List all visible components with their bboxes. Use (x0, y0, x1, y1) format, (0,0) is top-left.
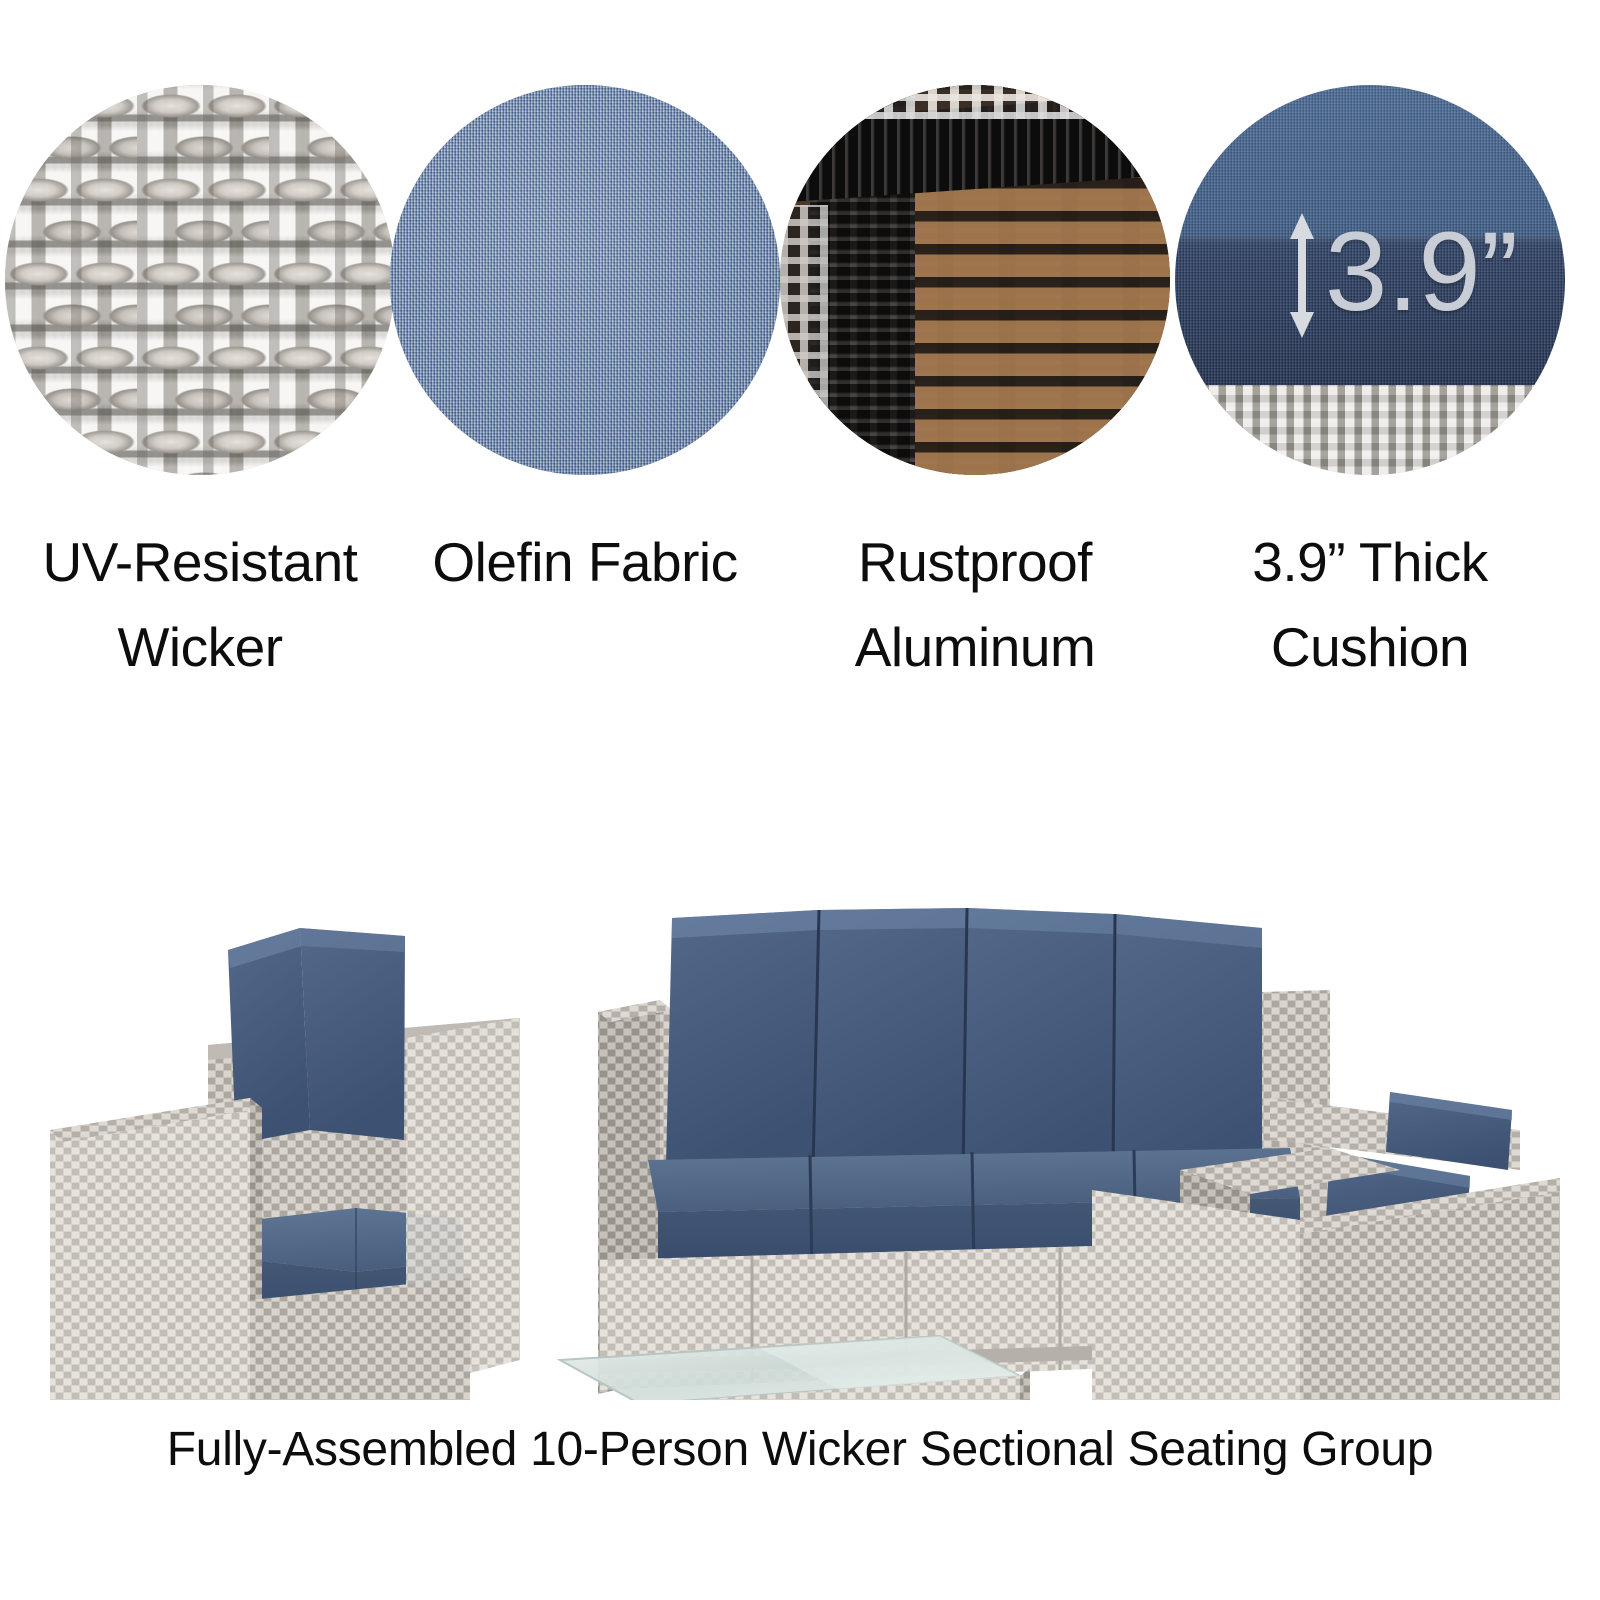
feature-caption: UV-Resistant Wicker (0, 520, 400, 690)
feature-caption-line1: 3.9” Thick (1170, 520, 1570, 605)
feature-caption-line2: Cushion (1170, 605, 1570, 690)
feature-caption-line2: Wicker (0, 605, 400, 690)
product-infographic-page: UV-Resistant Wicker Olefin Fabric (0, 0, 1600, 1600)
wicker-sectional-seating-group-photo (0, 700, 1600, 1400)
feature-caption: Rustproof Aluminum (775, 520, 1175, 690)
feature-caption-line1: UV-Resistant (0, 520, 400, 605)
feature-rustproof-aluminum: Rustproof Aluminum (775, 0, 1175, 700)
aluminum-frame-photo-icon (780, 85, 1170, 475)
feature-olefin-fabric: Olefin Fabric (385, 0, 785, 700)
blue-olefin-fabric-swatch-icon (390, 85, 780, 475)
loveseat-left (50, 928, 520, 1400)
feature-caption-line2: Aluminum (775, 605, 1175, 690)
page-caption: Fully-Assembled 10-Person Wicker Section… (0, 1418, 1600, 1482)
feature-highlights-row: UV-Resistant Wicker Olefin Fabric (0, 0, 1600, 700)
double-arrow-icon (1287, 213, 1317, 338)
cushion-thickness-value: 3.9” (1325, 213, 1518, 331)
feature-caption-line1: Olefin Fabric (385, 520, 785, 605)
grey-wicker-swatch-icon (5, 85, 395, 475)
feature-uv-resistant-wicker: UV-Resistant Wicker (0, 0, 400, 700)
cushion-thickness-photo-icon: 3.9” (1175, 85, 1565, 475)
feature-caption: Olefin Fabric (385, 520, 785, 605)
feature-caption-line1: Rustproof (775, 520, 1175, 605)
feature-thick-cushion: 3.9” 3.9” Thick Cushion (1170, 0, 1570, 700)
feature-caption: 3.9” Thick Cushion (1170, 520, 1570, 690)
